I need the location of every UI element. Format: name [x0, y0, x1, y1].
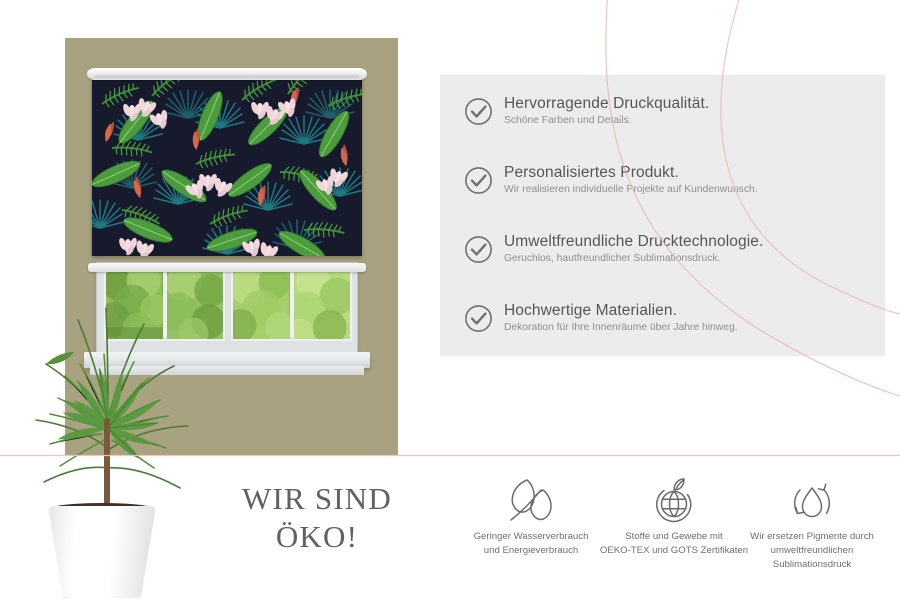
- eco-benefit-item: Wir ersetzen Pigmente durch umweltfreund…: [722, 472, 900, 572]
- check-circle-icon: [464, 166, 493, 195]
- window-pane: [233, 271, 290, 339]
- product-infographic: Hervorragende Druckqualität. Schöne Farb…: [0, 0, 900, 600]
- feature-item: Hervorragende Druckqualität. Schöne Farb…: [464, 95, 709, 128]
- feature-item: Hochwertige Materialien. Dekoration für …: [464, 302, 738, 335]
- eco-title-line1: WIR SIND: [212, 480, 422, 518]
- blind-bottom-rail: [88, 263, 366, 272]
- feature-subtext: Geruchlos, hautfreundlicher Sublimations…: [504, 253, 763, 265]
- check-circle-icon: [464, 97, 493, 126]
- eco-caption-line3: Sublimationsdruck: [722, 558, 900, 572]
- features-panel: Hervorragende Druckqualität. Schöne Farb…: [440, 75, 885, 356]
- roller-blind: [88, 68, 366, 264]
- roller-end-cap-left: [87, 69, 96, 79]
- roller-blind-bar: [88, 68, 366, 80]
- check-circle-icon: [464, 304, 493, 333]
- water-drop-recycle-icon: [722, 472, 900, 528]
- feature-subtext: Wir realisieren individuelle Projekte au…: [504, 184, 758, 196]
- feature-heading: Hervorragende Druckqualität.: [504, 95, 709, 112]
- roller-end-cap-right: [358, 69, 367, 79]
- eco-caption: Wir ersetzen Pigmente durch umweltfreund…: [722, 530, 900, 572]
- plant-pot: [48, 506, 156, 598]
- feature-heading: Hochwertige Materialien.: [504, 302, 738, 319]
- eco-title-line2: ÖKO!: [212, 518, 422, 556]
- blind-fabric-print: [92, 78, 362, 256]
- feature-subtext: Schöne Farben und Details.: [504, 115, 709, 127]
- check-circle-icon: [464, 235, 493, 264]
- feature-subtext: Dekoration für Ihre Innenräume über Jahr…: [504, 322, 738, 334]
- feature-item: Personalisiertes Produkt. Wir realisiere…: [464, 164, 758, 197]
- eco-caption-line2: umweltfreundlichen: [722, 544, 900, 558]
- window-pane: [294, 271, 351, 339]
- feature-item: Umweltfreundliche Drucktechnologie. Geru…: [464, 233, 763, 266]
- window-sash-right: [231, 269, 352, 341]
- feature-heading: Umweltfreundliche Drucktechnologie.: [504, 233, 763, 250]
- eco-caption-line1: Wir ersetzen Pigmente durch: [722, 530, 900, 544]
- feature-heading: Personalisiertes Produkt.: [504, 164, 758, 181]
- eco-title: WIR SIND ÖKO!: [212, 480, 422, 556]
